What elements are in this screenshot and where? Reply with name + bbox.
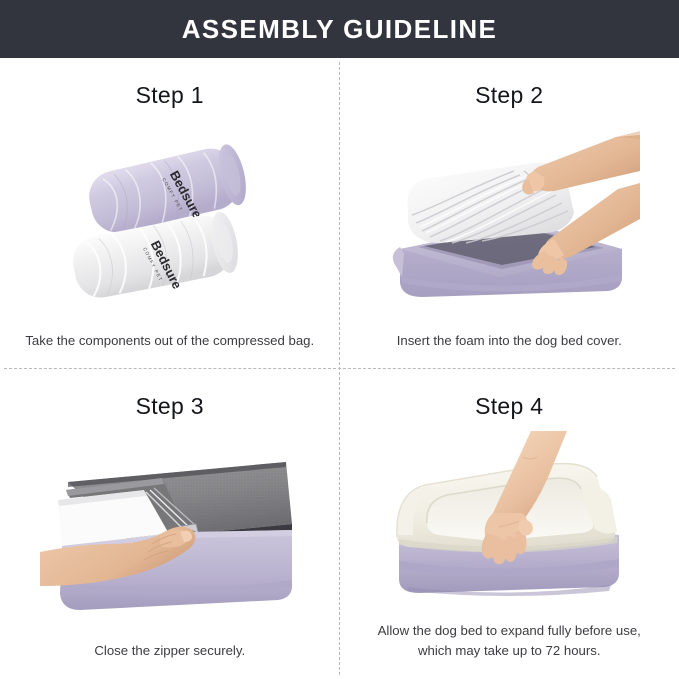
step-illustration-2 [358, 109, 662, 331]
step-illustration-4 [358, 420, 662, 622]
header-bar: ASSEMBLY GUIDELINE [0, 0, 679, 58]
step-title-3: Step 3 [136, 393, 204, 420]
step-caption-3: Close the zipper securely. [94, 641, 245, 661]
step-title-4: Step 4 [475, 393, 543, 420]
page-title: ASSEMBLY GUIDELINE [182, 14, 498, 45]
step-title-1: Step 1 [136, 82, 204, 109]
step-caption-1: Take the components out of the compresse… [25, 331, 314, 351]
step-caption-4: Allow the dog bed to expand fully before… [359, 621, 659, 661]
step-panel-2: Step 2 [340, 58, 679, 369]
step-caption-2: Insert the foam into the dog bed cover. [397, 331, 622, 351]
step-panel-1: Step 1 [0, 58, 340, 369]
clear-compressed-roll: Bedsure COMFY PET [68, 210, 243, 311]
step-panel-3: Step 3 [0, 369, 340, 679]
step-title-2: Step 2 [475, 82, 543, 109]
assembly-guideline-infographic: ASSEMBLY GUIDELINE Step 1 [0, 0, 679, 679]
steps-grid: Step 1 [0, 58, 679, 679]
step-illustration-1: Bedsure COMFY PET [18, 109, 322, 331]
step-panel-4: Step 4 [340, 369, 679, 679]
step-illustration-3 [18, 420, 322, 642]
